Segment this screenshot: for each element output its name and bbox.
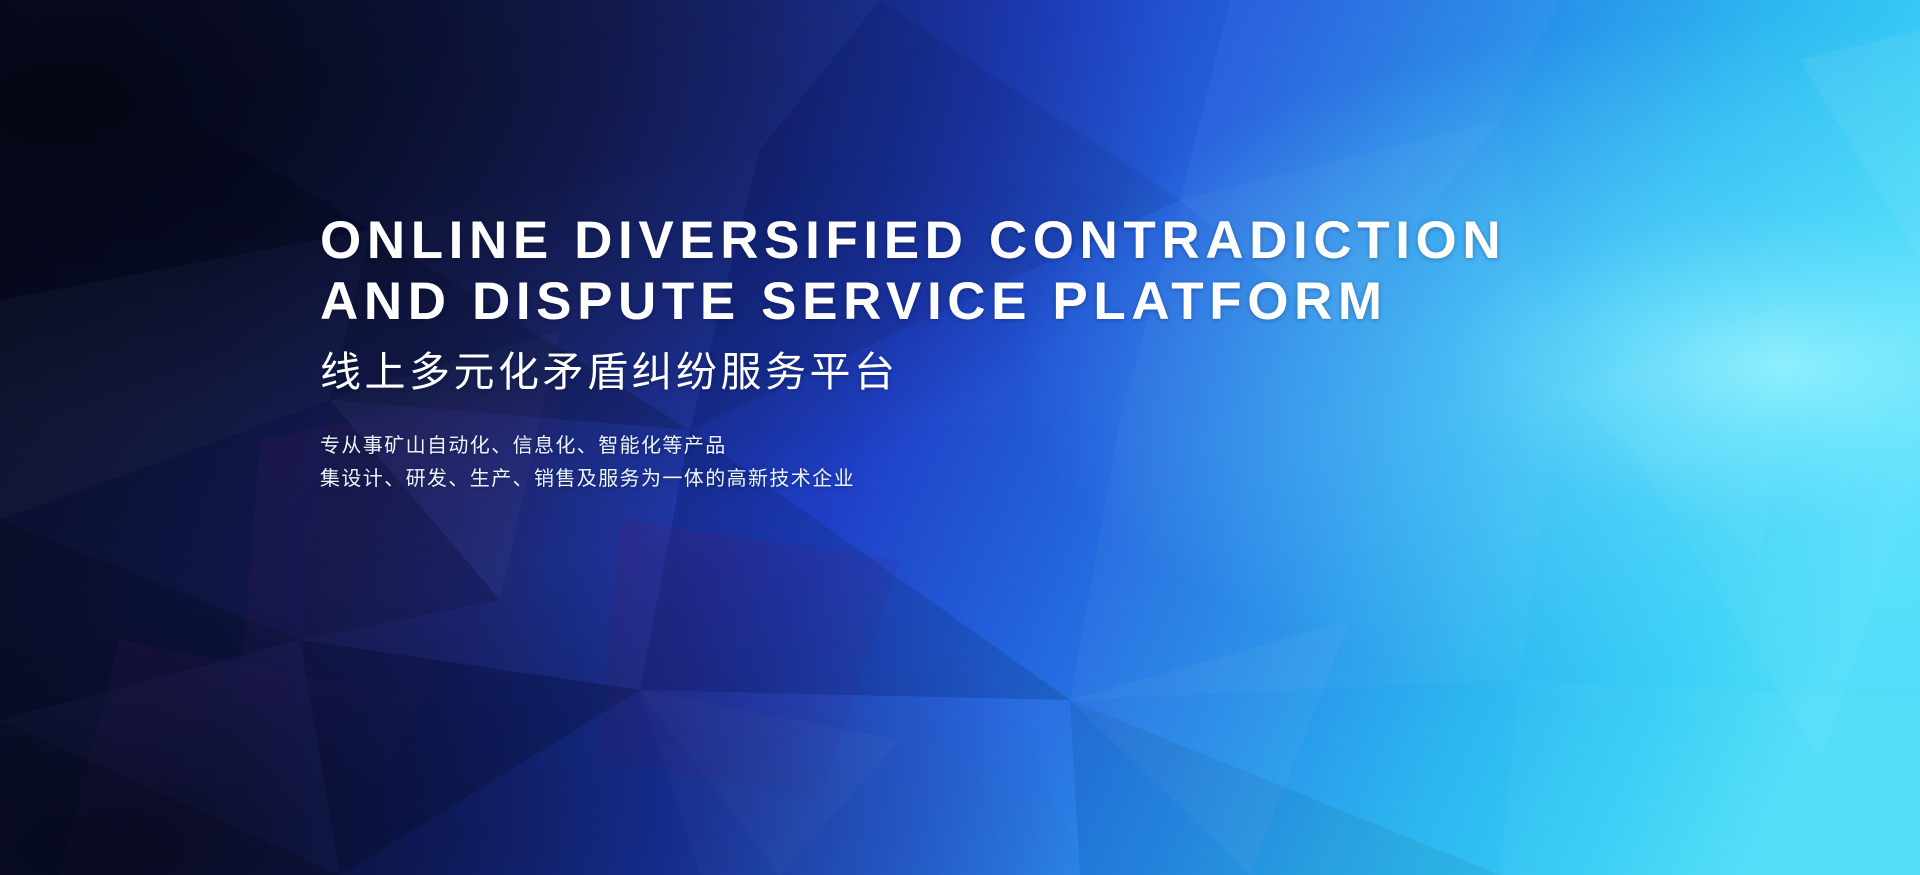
subtitle-chinese: 线上多元化矛盾纠纷服务平台 <box>320 346 1620 398</box>
hero-text-block: ONLINE DIVERSIFIED CONTRADICTION AND DIS… <box>320 210 1620 496</box>
page-title: ONLINE DIVERSIFIED CONTRADICTION AND DIS… <box>320 210 1620 332</box>
hero-banner: ONLINE DIVERSIFIED CONTRADICTION AND DIS… <box>0 0 1920 875</box>
description-line-1: 专从事矿山自动化、信息化、智能化等产品 <box>320 430 1620 463</box>
description-line-2: 集设计、研发、生产、销售及服务为一体的高新技术企业 <box>320 463 1620 496</box>
description-list: 专从事矿山自动化、信息化、智能化等产品 集设计、研发、生产、销售及服务为一体的高… <box>320 430 1620 496</box>
